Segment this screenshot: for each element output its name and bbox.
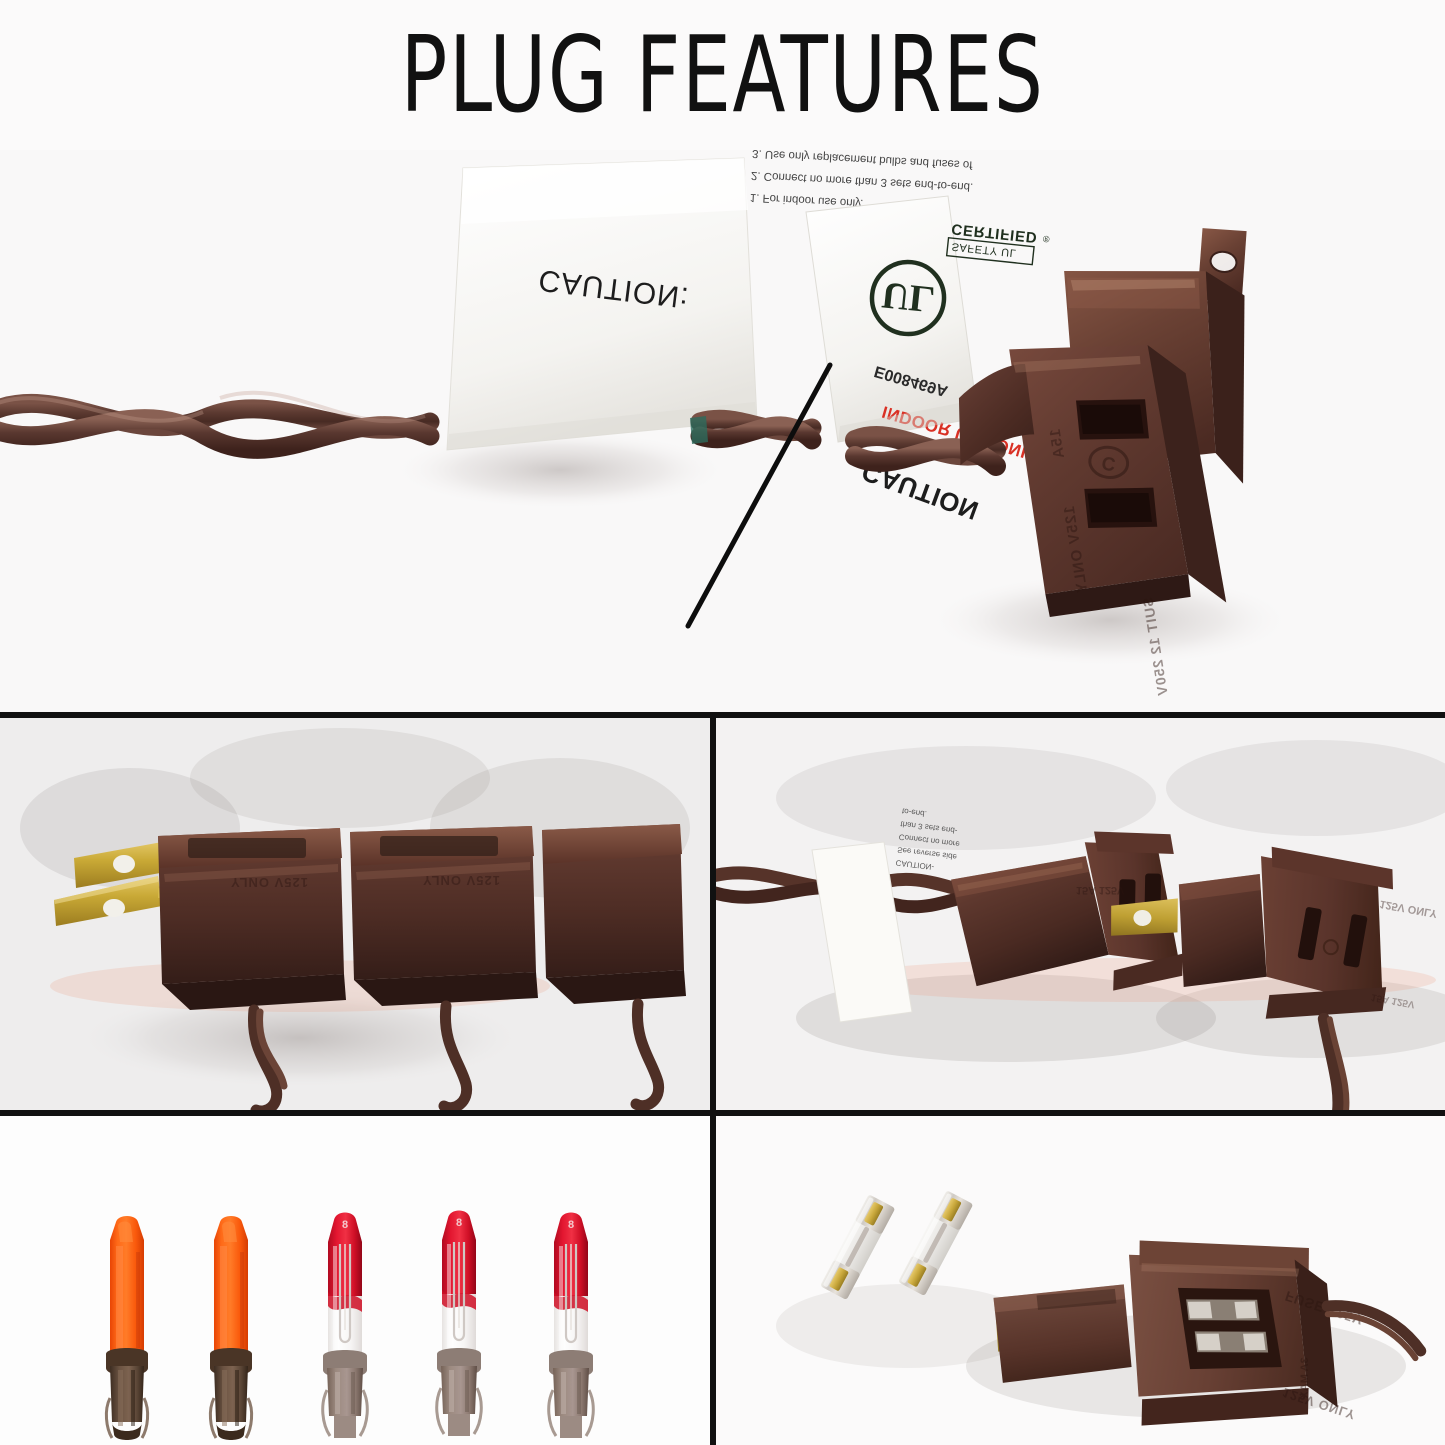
divider-vertical-bottom	[710, 1110, 716, 1445]
male-plug-1: 125V ONLY	[158, 828, 346, 1010]
plug-features-infographic: PLUG FEATURES	[0, 0, 1445, 1445]
connectable-panel: CAUTION- See reverse side Connect no mor…	[716, 718, 1445, 1110]
bulb-orange-1	[106, 1216, 148, 1440]
male-plug-3-partial	[542, 824, 686, 1004]
spare-bulbs-photo: 8 8	[0, 1116, 710, 1445]
divider-horizontal-top	[0, 712, 1445, 718]
svg-text:3A MAX: 3A MAX	[1299, 1357, 1311, 1399]
spare-bulbs-panel: 8 8	[0, 1116, 710, 1445]
hero-panel: CAUTION: 1. For indoor use only. 2. Conn…	[0, 150, 1445, 712]
svg-text:8: 8	[456, 1217, 462, 1229]
protected-panel: FUSE 125V 125V ONLY 3A MAX PROTECTED	[716, 1116, 1445, 1445]
bulb-red-3: 8	[549, 1213, 594, 1439]
stackable-panel: 125V ONLY 125V ONLY	[0, 718, 710, 1110]
svg-text:8: 8	[342, 1219, 348, 1231]
svg-text:UL: UL	[880, 273, 937, 320]
svg-text:15A 125V: 15A 125V	[1076, 884, 1125, 896]
bulb-red-1: 8	[323, 1213, 368, 1439]
connectable-photo: CAUTION- See reverse side Connect no mor…	[716, 718, 1445, 1110]
page-title: PLUG FEATURES	[401, 23, 1045, 128]
divider-horizontal-bottom	[0, 1110, 1445, 1116]
hero-photo: CAUTION: 1. For indoor use only. 2. Conn…	[0, 150, 1445, 712]
stackable-photo: 125V ONLY 125V ONLY	[0, 718, 710, 1110]
protected-photo: FUSE 125V 125V ONLY 3A MAX	[716, 1116, 1445, 1445]
male-plug-2: 125V ONLY	[350, 826, 538, 1006]
bulb-orange-2	[210, 1216, 252, 1440]
svg-text:8: 8	[568, 1219, 574, 1231]
divider-vertical-middle	[710, 712, 716, 1110]
bulb-red-2: 8	[437, 1211, 482, 1437]
title-bar: PLUG FEATURES	[0, 0, 1445, 150]
